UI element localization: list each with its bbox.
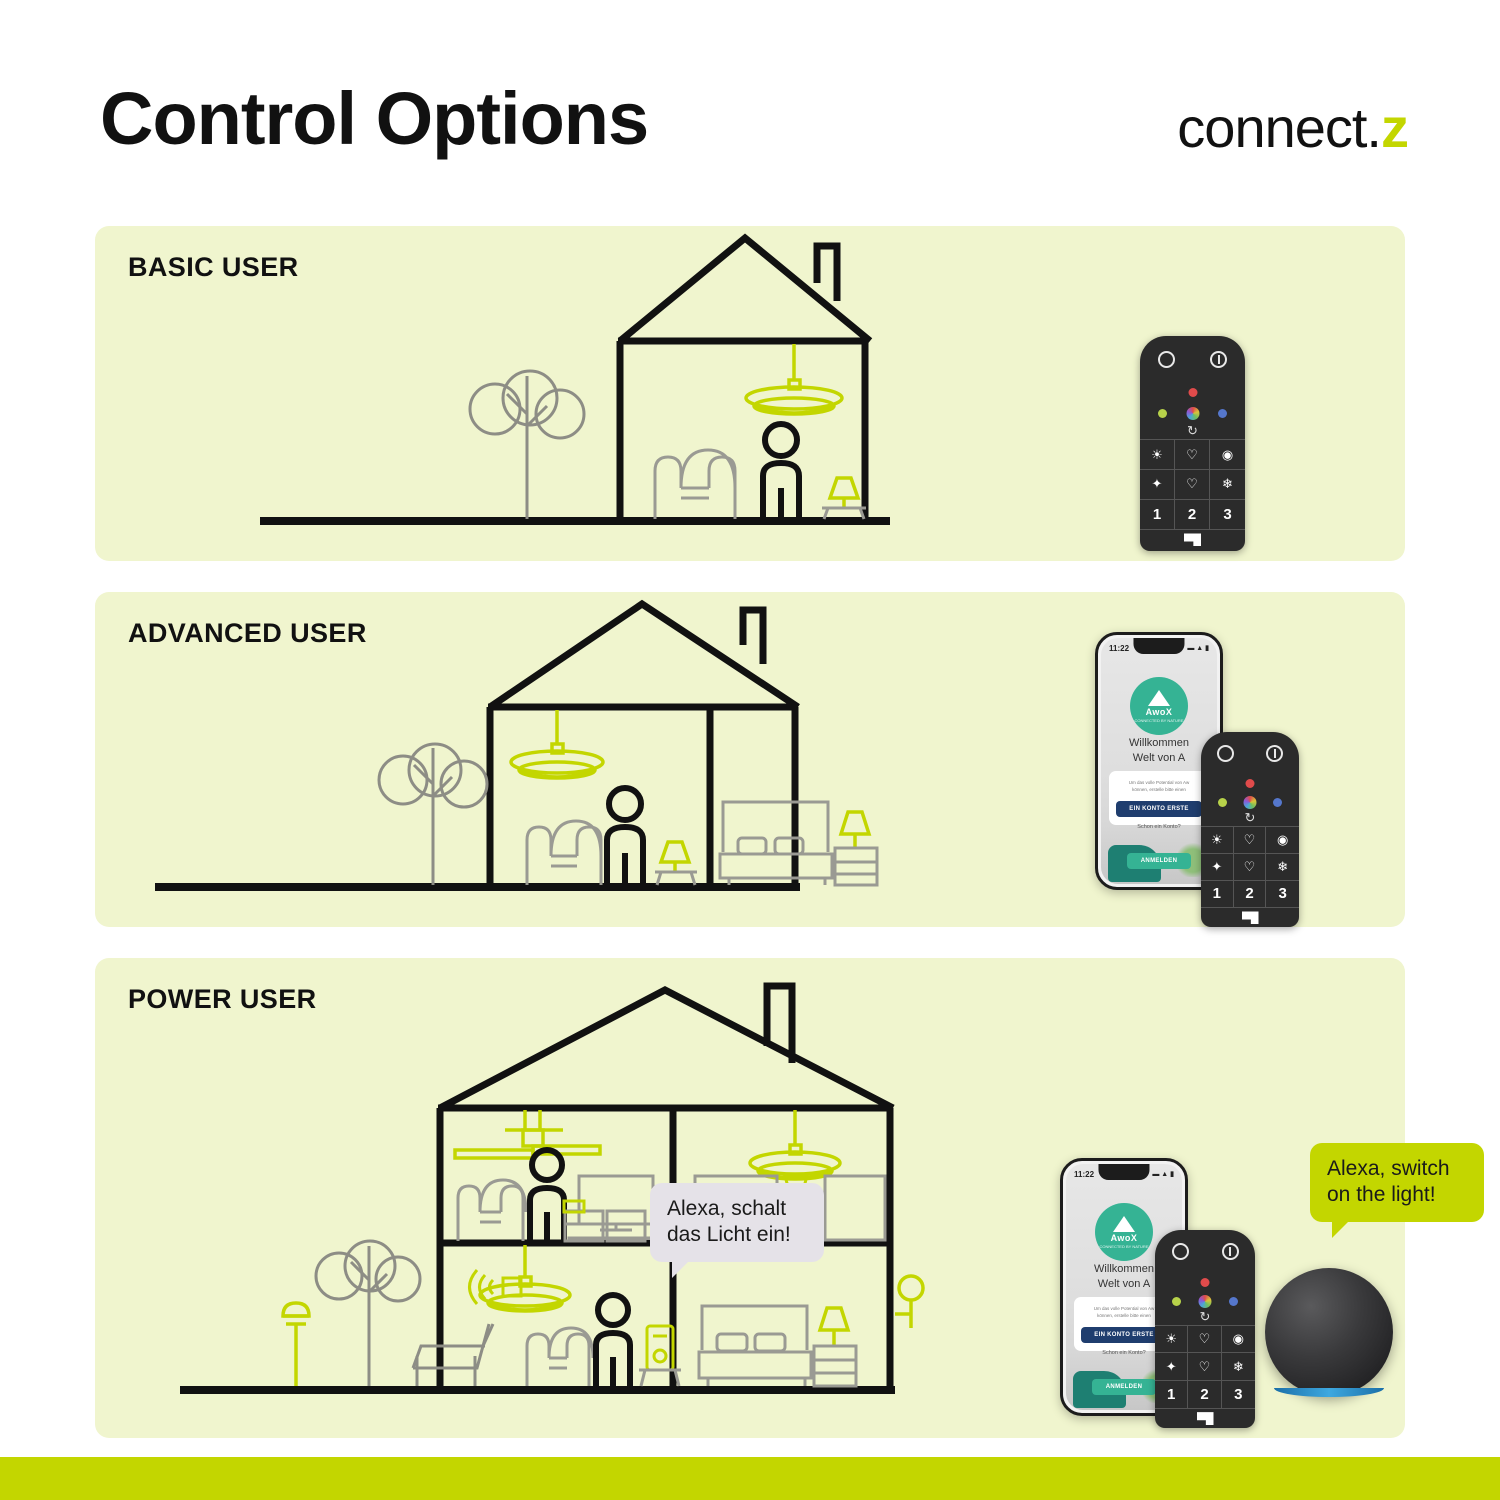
loop-icon[interactable]: ↻ bbox=[1187, 424, 1198, 437]
phone-status-bar: 11:22 ▬ ▲ ▮ bbox=[1101, 641, 1217, 655]
remote-foot[interactable] bbox=[1140, 530, 1245, 551]
panel-basic-user: BASIC USER bbox=[95, 226, 1405, 561]
infographic-page: Control Options connect.z BASIC USER bbox=[0, 0, 1500, 1500]
remote-keypad[interactable]: ☀ ♡ ◉ ✦ ♡ ❄ 1 2 3 bbox=[1201, 826, 1299, 909]
person bbox=[596, 1295, 630, 1386]
loop-icon[interactable]: ↻ bbox=[1245, 811, 1256, 824]
pendant-lamp bbox=[511, 710, 603, 778]
scene-3-key[interactable]: 3 bbox=[1222, 1381, 1255, 1409]
tree bbox=[470, 371, 584, 519]
power-button-icon[interactable] bbox=[1222, 1243, 1239, 1260]
remote-color-pad[interactable]: ↻ bbox=[1155, 1274, 1255, 1325]
cool-white-icon[interactable]: ❄ bbox=[1222, 1353, 1255, 1380]
remote-top-row[interactable] bbox=[1155, 1230, 1255, 1274]
ground-line bbox=[180, 1386, 895, 1394]
remote-top-row[interactable] bbox=[1140, 336, 1245, 383]
favourite-1-icon[interactable]: ♡ bbox=[1234, 827, 1267, 854]
cool-white-icon[interactable]: ❄ bbox=[1210, 470, 1245, 500]
panel-power-user: POWER USER bbox=[95, 958, 1405, 1438]
pendant-lamp bbox=[746, 344, 842, 414]
scene-2-key[interactable]: 2 bbox=[1188, 1381, 1221, 1409]
bottom-accent-bar bbox=[0, 1457, 1500, 1500]
brand-logo-text: connect. bbox=[1177, 96, 1381, 159]
scene-2-key[interactable]: 2 bbox=[1175, 500, 1210, 531]
smart-lighting-remote[interactable]: ↻ ☀ ♡ ◉ ✦ ♡ ❄ 1 2 3 bbox=[1201, 732, 1299, 927]
blue-color-dot[interactable] bbox=[1273, 798, 1282, 807]
status-icons: ▬ ▲ ▮ bbox=[1152, 1170, 1174, 1178]
garden-lamp bbox=[283, 1303, 309, 1386]
panel-advanced-user: ADVANCED USER bbox=[95, 592, 1405, 927]
blue-color-dot[interactable] bbox=[1218, 409, 1227, 418]
red-color-dot[interactable] bbox=[1188, 388, 1197, 397]
awox-logo: AwoX CONNECTED BY NATURE bbox=[1130, 677, 1188, 735]
book-scene-icon[interactable] bbox=[1184, 533, 1201, 546]
scene-1-key[interactable]: 1 bbox=[1201, 881, 1234, 909]
circle-button-icon[interactable] bbox=[1158, 351, 1175, 368]
tree bbox=[316, 1241, 420, 1386]
blue-color-dot[interactable] bbox=[1229, 1297, 1238, 1306]
house-roof bbox=[440, 990, 893, 1108]
loop-icon[interactable]: ↻ bbox=[1200, 1310, 1211, 1323]
power-button-icon[interactable] bbox=[1210, 351, 1227, 368]
ceiling-fan bbox=[455, 1110, 600, 1158]
header: Control Options connect.z bbox=[0, 0, 1500, 210]
smart-lighting-remote[interactable]: ↻ ☀ ♡ ◉ ✦ ♡ ❄ 1 2 3 bbox=[1155, 1230, 1255, 1428]
nightstand-lamp bbox=[841, 812, 869, 848]
welcome-line-2: Welt von A bbox=[1107, 751, 1211, 766]
rainbow-color-dot[interactable] bbox=[1244, 796, 1257, 809]
circle-button-icon[interactable] bbox=[1217, 745, 1234, 762]
amazon-echo-dot-speaker[interactable] bbox=[1265, 1268, 1393, 1396]
brand-logo-accent: z bbox=[1381, 96, 1408, 159]
remote-foot[interactable] bbox=[1201, 908, 1299, 927]
rainbow-color-dot[interactable] bbox=[1199, 1295, 1212, 1308]
bubble-tail bbox=[672, 1258, 692, 1278]
favourite-1-icon[interactable]: ♡ bbox=[1188, 1326, 1221, 1353]
brightness-up-icon[interactable]: ☀ bbox=[1201, 827, 1234, 854]
red-color-dot[interactable] bbox=[1201, 1278, 1210, 1287]
brightness-up-icon[interactable]: ☀ bbox=[1140, 440, 1175, 470]
tree bbox=[379, 744, 487, 885]
house-roof bbox=[620, 238, 870, 341]
welcome-text: Willkommen Welt von A bbox=[1101, 736, 1217, 766]
pendant-lamp bbox=[750, 1110, 840, 1179]
bubble-german-line-2: das Licht ein! bbox=[667, 1222, 807, 1248]
brightness-down-icon[interactable]: ✦ bbox=[1140, 470, 1175, 500]
awox-name: AwoX bbox=[1146, 707, 1173, 717]
speech-bubble-english: Alexa, switch on the light! bbox=[1310, 1143, 1484, 1222]
armchair bbox=[458, 1180, 526, 1241]
armchair bbox=[527, 1328, 593, 1386]
status-icons: ▬ ▲ ▮ bbox=[1187, 644, 1209, 652]
nightstand-lamp bbox=[820, 1308, 848, 1346]
favourite-1-icon[interactable]: ♡ bbox=[1175, 440, 1210, 470]
remote-color-pad[interactable]: ↻ bbox=[1201, 775, 1299, 826]
green-color-dot[interactable] bbox=[1158, 409, 1167, 418]
red-color-dot[interactable] bbox=[1246, 779, 1255, 788]
phone-screen[interactable]: 11:22 ▬ ▲ ▮ AwoX CONNECTED BY NATURE Wil… bbox=[1101, 638, 1217, 884]
phone-status-bar: 11:22 ▬ ▲ ▮ bbox=[1066, 1167, 1182, 1181]
remote-foot[interactable] bbox=[1155, 1409, 1255, 1428]
status-time: 11:22 bbox=[1074, 1170, 1094, 1179]
awox-tagline: CONNECTED BY NATURE bbox=[1135, 718, 1184, 723]
favourite-2-icon[interactable]: ♡ bbox=[1175, 470, 1210, 500]
circle-button-icon[interactable] bbox=[1172, 1243, 1189, 1260]
scene-1-key[interactable]: 1 bbox=[1155, 1381, 1188, 1409]
page-title: Control Options bbox=[100, 82, 648, 156]
rainbow-color-dot[interactable] bbox=[1186, 407, 1199, 420]
scene-2-key[interactable]: 2 bbox=[1234, 881, 1267, 909]
status-time: 11:22 bbox=[1109, 644, 1129, 653]
scene-3-key[interactable]: 3 bbox=[1266, 881, 1299, 909]
signup-card: Um das volle Potential von Aw können, er… bbox=[1109, 771, 1209, 825]
wardrobe bbox=[825, 1176, 885, 1240]
green-color-dot[interactable] bbox=[1172, 1297, 1181, 1306]
bubble-tail bbox=[1332, 1218, 1352, 1238]
tv bbox=[579, 1176, 653, 1230]
favourite-2-icon[interactable]: ♡ bbox=[1188, 1353, 1221, 1380]
armchair bbox=[655, 450, 735, 519]
warm-white-icon[interactable]: ◉ bbox=[1210, 440, 1245, 470]
card-line-1: Um das volle Potential von Aw bbox=[1116, 779, 1202, 787]
scene-1-key[interactable]: 1 bbox=[1140, 500, 1175, 531]
scene-3-key[interactable]: 3 bbox=[1210, 500, 1245, 531]
smart-speaker bbox=[647, 1326, 673, 1370]
armchair bbox=[527, 821, 601, 885]
card-line-2: können, erstelle bitte einen bbox=[1116, 786, 1202, 794]
bubble-english-line-2: on the light! bbox=[1327, 1182, 1467, 1208]
person bbox=[607, 788, 643, 885]
person bbox=[530, 1150, 564, 1241]
create-account-button[interactable]: EIN KONTO ERSTE bbox=[1116, 801, 1202, 817]
warm-white-icon[interactable]: ◉ bbox=[1266, 827, 1299, 854]
green-color-dot[interactable] bbox=[1218, 798, 1227, 807]
person bbox=[763, 424, 799, 519]
login-button[interactable]: ANMELDEN bbox=[1092, 1379, 1157, 1395]
awox-tagline: CONNECTED BY NATURE bbox=[1100, 1244, 1149, 1249]
brightness-up-icon[interactable]: ☀ bbox=[1155, 1326, 1188, 1353]
brand-logo: connect.z bbox=[1177, 100, 1408, 156]
awox-triangle-icon bbox=[1148, 690, 1170, 706]
bed bbox=[720, 802, 832, 885]
cool-white-icon[interactable]: ❄ bbox=[1266, 854, 1299, 881]
warm-white-icon[interactable]: ◉ bbox=[1222, 1326, 1255, 1353]
remote-top-row[interactable] bbox=[1201, 732, 1299, 775]
bubble-english-line-1: Alexa, switch bbox=[1327, 1156, 1467, 1182]
house-roof bbox=[490, 604, 798, 707]
house-chimney bbox=[743, 610, 763, 664]
welcome-line-1: Willkommen bbox=[1107, 736, 1211, 751]
awox-name: AwoX bbox=[1111, 1233, 1138, 1243]
bubble-german-line-1: Alexa, schalt bbox=[667, 1196, 807, 1222]
ground-line bbox=[155, 883, 800, 891]
nightstand bbox=[835, 848, 877, 885]
bed bbox=[699, 1306, 811, 1386]
login-button[interactable]: ANMELDEN bbox=[1127, 853, 1192, 869]
awox-triangle-icon bbox=[1113, 1216, 1135, 1232]
book-scene-icon[interactable] bbox=[1197, 1412, 1214, 1425]
smart-lighting-remote[interactable]: ↻ ☀ ♡ ◉ ✦ ♡ ❄ 1 2 3 bbox=[1140, 336, 1245, 551]
outdoor-wall-lamp bbox=[895, 1276, 923, 1328]
book-scene-icon[interactable] bbox=[1242, 911, 1259, 924]
awox-logo: AwoX CONNECTED BY NATURE bbox=[1095, 1203, 1153, 1261]
power-button-icon[interactable] bbox=[1266, 745, 1283, 762]
nightstand bbox=[814, 1346, 856, 1386]
table-lamp bbox=[830, 478, 858, 508]
house-chimney bbox=[817, 246, 837, 301]
pendant-lamp-lower bbox=[480, 1245, 570, 1311]
ground-line bbox=[260, 517, 890, 525]
remote-color-pad[interactable]: ↻ bbox=[1140, 383, 1245, 439]
deck-chair bbox=[413, 1324, 493, 1386]
remote-keypad[interactable]: ☀ ♡ ◉ ✦ ♡ ❄ 1 2 3 bbox=[1155, 1325, 1255, 1409]
brightness-down-icon[interactable]: ✦ bbox=[1201, 854, 1234, 881]
speech-bubble-german: Alexa, schalt das Licht ein! bbox=[650, 1183, 824, 1262]
brightness-down-icon[interactable]: ✦ bbox=[1155, 1353, 1188, 1380]
favourite-2-icon[interactable]: ♡ bbox=[1234, 854, 1267, 881]
table-lamp bbox=[661, 842, 689, 872]
already-account-text: Schon ein Konto? bbox=[1101, 824, 1217, 830]
remote-keypad[interactable]: ☀ ♡ ◉ ✦ ♡ ❄ 1 2 3 bbox=[1140, 439, 1245, 530]
